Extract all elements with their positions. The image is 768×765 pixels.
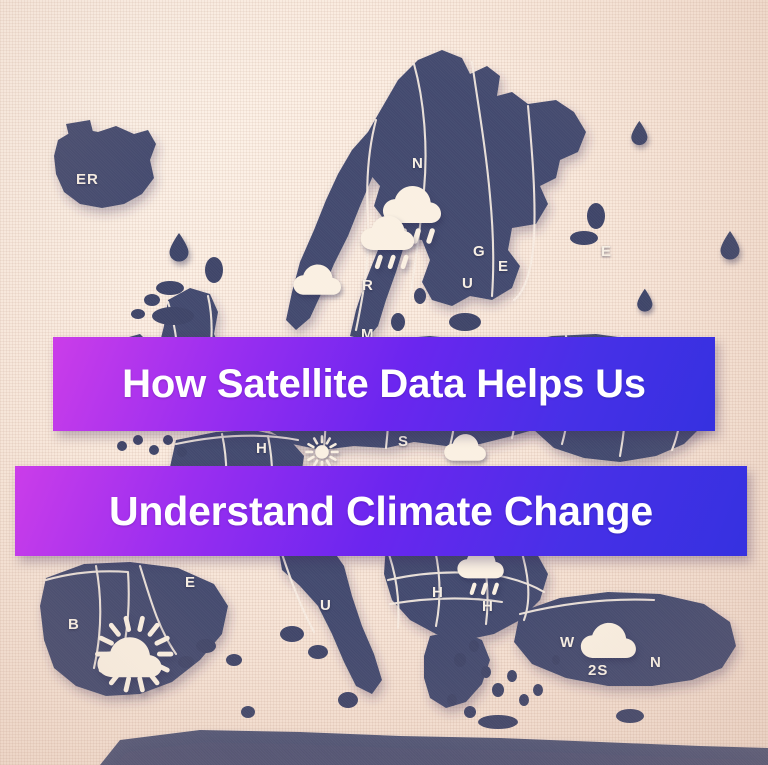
headline-line-2: Understand Climate Change xyxy=(109,488,653,535)
headline-banner-1: How Satellite Data Helps Us xyxy=(53,337,715,431)
headline-line-1: How Satellite Data Helps Us xyxy=(122,362,646,407)
headline-banner-2: Understand Climate Change xyxy=(15,466,747,556)
poster-canvas: ERNGEURMEHSBEUHHW2SN How Satellite Data … xyxy=(0,0,768,765)
